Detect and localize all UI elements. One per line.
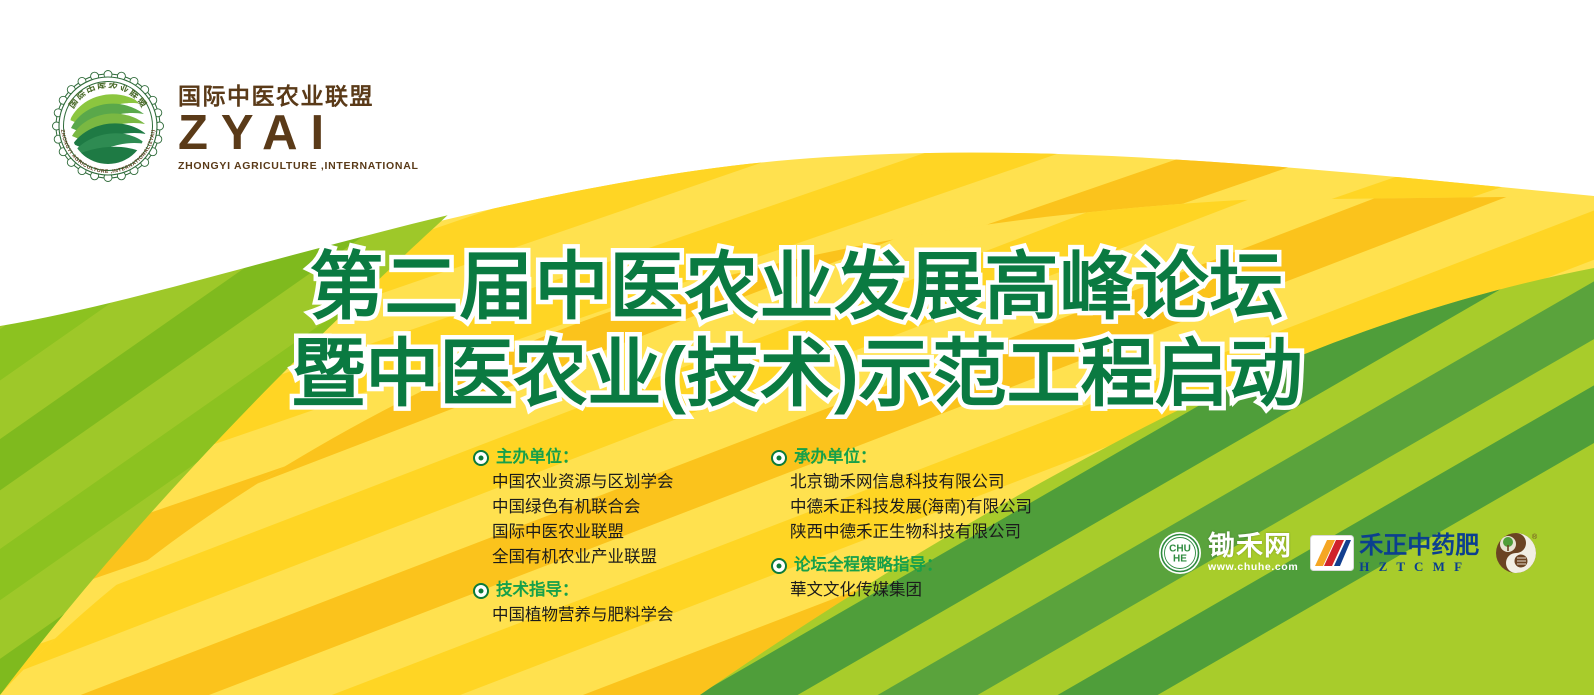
organizer-item: 国际中医农业联盟 bbox=[473, 520, 735, 545]
svg-text:HE: HE bbox=[1173, 554, 1187, 565]
chuhe-seal-icon: CHU HE bbox=[1158, 531, 1202, 575]
bullet-icon bbox=[473, 450, 489, 466]
conference-banner: 国际中医农业联盟 ZHONGYI AGRICULTURE ,INTERNATIO… bbox=[0, 0, 1594, 695]
organizer-heading-text: 论坛全程策略指导： bbox=[794, 554, 943, 578]
organizer-group-strategy: 论坛全程策略指导： 華文文化传媒集团 bbox=[771, 554, 1071, 603]
zyai-alliance-emblem: 国际中医农业联盟 ZHONGYI AGRICULTURE ,INTERNATIO… bbox=[52, 70, 164, 182]
organizer-item: 中国绿色有机联合会 bbox=[473, 495, 735, 520]
hztcmf-mark-icon bbox=[1310, 535, 1354, 571]
organizer-group-heading: 论坛全程策略指导： bbox=[771, 554, 1071, 578]
organizer-heading-text: 主办单位： bbox=[496, 446, 579, 470]
chuhe-wordmark: 锄禾网 www.chuhe.com bbox=[1208, 533, 1298, 573]
organizer-group-technical: 技术指导： 中国植物营养与肥料学会 bbox=[473, 579, 735, 628]
chuhe-url: www.chuhe.com bbox=[1208, 562, 1298, 573]
chuhe-name-cn: 锄禾网 bbox=[1208, 533, 1298, 560]
sponsor-logo-row: CHU HE 锄禾网 www.chuhe.com 禾正中药肥 H Z T C M… bbox=[1158, 527, 1543, 579]
organizer-item: 華文文化传媒集团 bbox=[771, 578, 1071, 603]
organizer-group-host: 主办单位： 中国农业资源与区划学会 中国绿色有机联合会 国际中医农业联盟 全国有… bbox=[473, 446, 735, 570]
organizer-column-left: 主办单位： 中国农业资源与区划学会 中国绿色有机联合会 国际中医农业联盟 全国有… bbox=[473, 446, 735, 628]
organizer-column-right: 承办单位： 北京锄禾网信息科技有限公司 中德禾正科技发展(海南)有限公司 陕西中… bbox=[771, 446, 1071, 628]
bullet-icon bbox=[771, 558, 787, 574]
organizer-group-heading: 技术指导： bbox=[473, 579, 735, 603]
alliance-name-en: ZHONGYI AGRICULTURE ,INTERNATIONAL bbox=[178, 161, 419, 173]
bullet-icon bbox=[473, 583, 489, 599]
tree-root-seal-icon: ® bbox=[1491, 527, 1543, 579]
alliance-acronym: ZYAI bbox=[178, 109, 419, 158]
hztcmf-name-en: H Z T C M F bbox=[1359, 560, 1479, 573]
alliance-logo-wordmark: 国际中医农业联盟 ZYAI ZHONGYI AGRICULTURE ,INTER… bbox=[178, 80, 419, 173]
organizer-group-heading: 承办单位： bbox=[771, 446, 1071, 470]
organizer-info: 主办单位： 中国农业资源与区划学会 中国绿色有机联合会 国际中医农业联盟 全国有… bbox=[473, 446, 1071, 628]
organizer-group-coorganizer: 承办单位： 北京锄禾网信息科技有限公司 中德禾正科技发展(海南)有限公司 陕西中… bbox=[771, 446, 1071, 545]
hztcmf-wordmark: 禾正中药肥 H Z T C M F bbox=[1359, 534, 1479, 573]
organizer-heading-text: 承办单位： bbox=[794, 446, 877, 470]
organizer-item: 中国农业资源与区划学会 bbox=[473, 470, 735, 495]
organizer-item: 中德禾正科技发展(海南)有限公司 bbox=[771, 495, 1071, 520]
sponsor-logo-tree-root-seal: ® bbox=[1491, 527, 1543, 579]
alliance-logo-lockup: 国际中医农业联盟 ZHONGYI AGRICULTURE ,INTERNATIO… bbox=[52, 70, 419, 182]
organizer-item: 北京锄禾网信息科技有限公司 bbox=[771, 470, 1071, 495]
organizer-item: 全国有机农业产业联盟 bbox=[473, 545, 735, 570]
sponsor-logo-chuhe: CHU HE 锄禾网 www.chuhe.com bbox=[1158, 531, 1298, 575]
organizer-heading-text: 技术指导： bbox=[496, 579, 579, 603]
organizer-item: 中国植物营养与肥料学会 bbox=[473, 603, 735, 628]
alliance-name-cn: 国际中医农业联盟 bbox=[178, 84, 419, 108]
organizer-group-heading: 主办单位： bbox=[473, 446, 735, 470]
bullet-icon bbox=[771, 450, 787, 466]
svg-text:®: ® bbox=[1532, 533, 1538, 541]
sponsor-logo-hztcmf: 禾正中药肥 H Z T C M F bbox=[1310, 534, 1479, 573]
organizer-item: 陕西中德禾正生物科技有限公司 bbox=[771, 520, 1071, 545]
hztcmf-name-cn: 禾正中药肥 bbox=[1359, 534, 1479, 558]
